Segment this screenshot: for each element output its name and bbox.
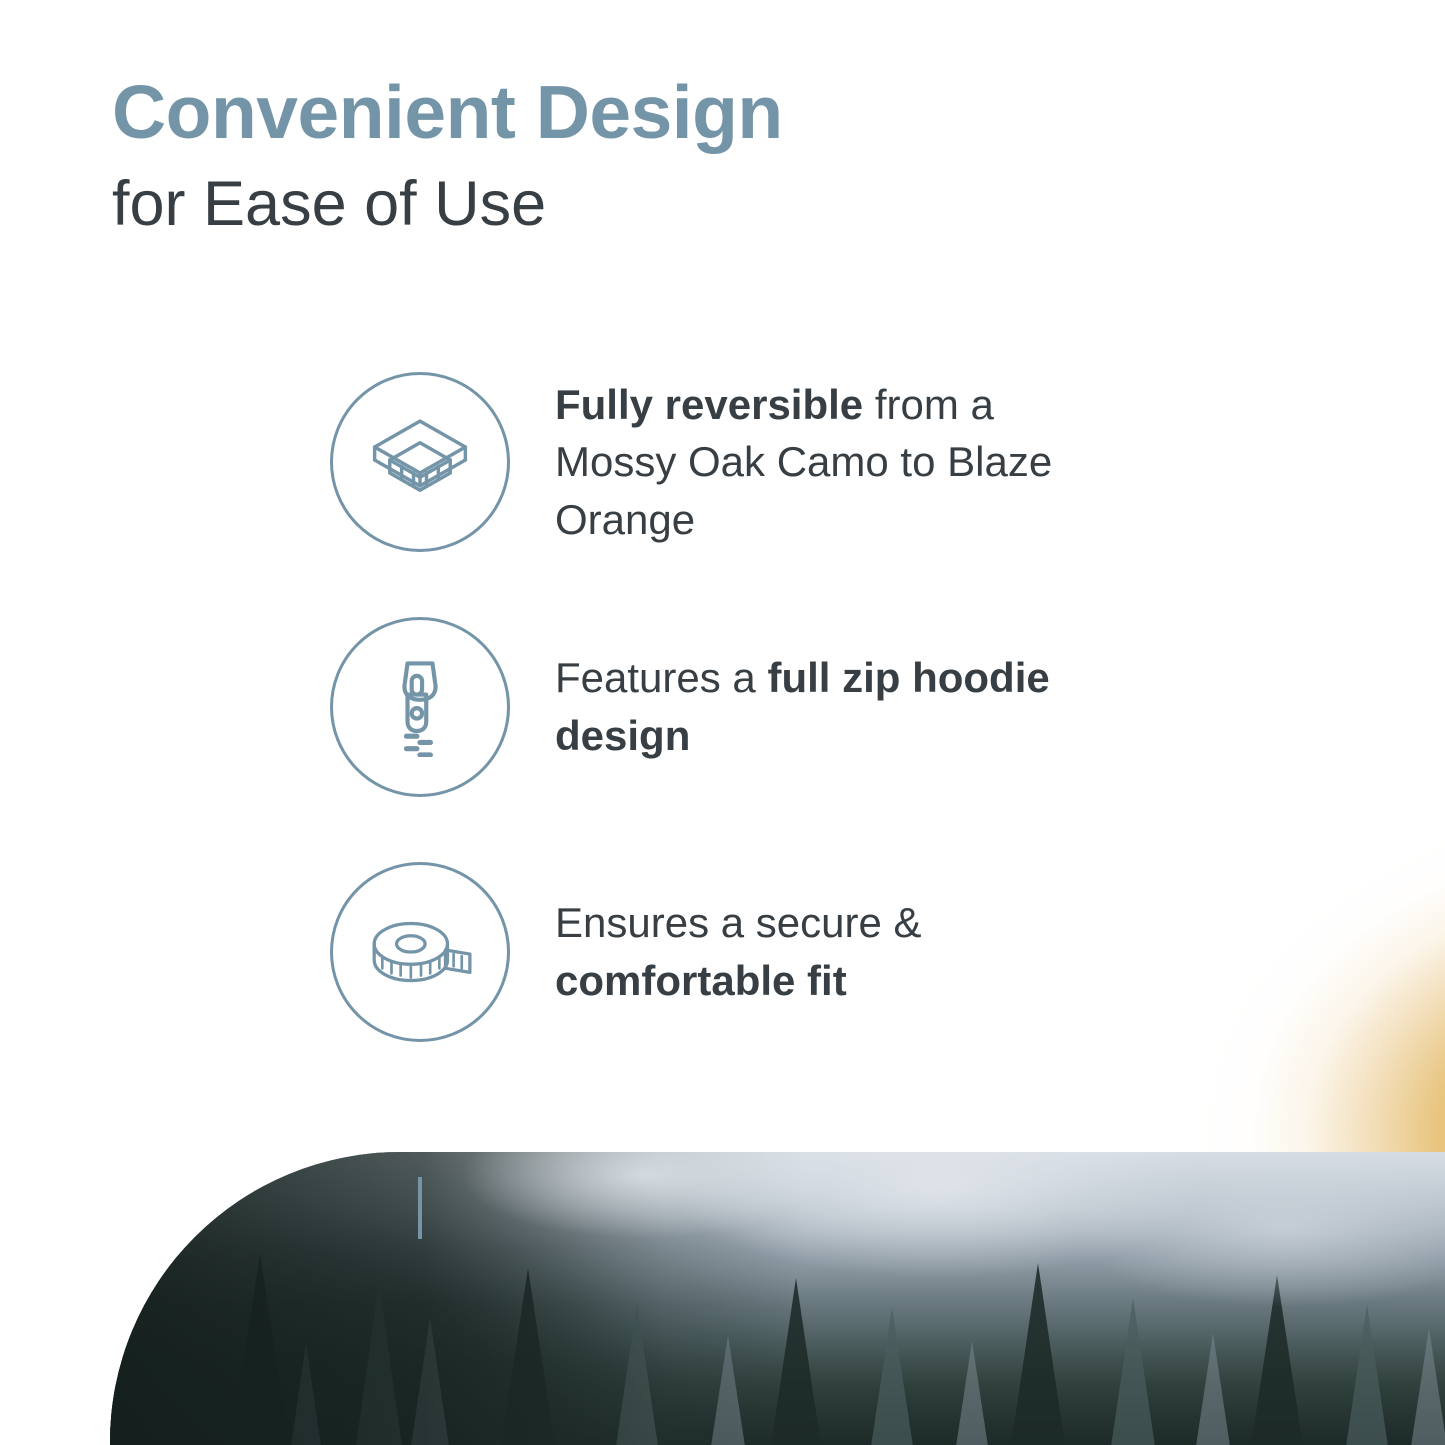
feature-list: Fully reversible from a Mossy Oak Camo t… bbox=[330, 372, 1330, 1042]
feature-text-1: Fully reversible from a Mossy Oak Camo t… bbox=[555, 376, 1115, 549]
heading-block: Convenient Design for Ease of Use bbox=[112, 74, 1212, 237]
feature-icon-circle-3 bbox=[330, 862, 510, 1042]
tape-measure-icon bbox=[364, 894, 476, 1011]
forest-photo-panel bbox=[110, 1152, 1445, 1445]
list-item: Features a full zip hoodie design bbox=[330, 617, 1330, 797]
feature-text-2: Features a full zip hoodie design bbox=[555, 649, 1115, 764]
feature-icon-circle-2 bbox=[330, 617, 510, 797]
feature-3-bold: comfortable fit bbox=[555, 957, 847, 1004]
zipper-pull-icon bbox=[368, 653, 472, 762]
page-title: Convenient Design bbox=[112, 74, 1212, 151]
list-item: Fully reversible from a Mossy Oak Camo t… bbox=[330, 372, 1330, 552]
feature-text-3: Ensures a secure & comfortable fit bbox=[555, 894, 1115, 1009]
forest-mist-overlay bbox=[110, 1152, 1445, 1445]
feature-icon-circle-1 bbox=[330, 372, 510, 552]
connector-line-2 bbox=[418, 1177, 422, 1239]
page-subtitle: for Ease of Use bbox=[112, 171, 1212, 237]
feature-3-lead: Ensures a secure & bbox=[555, 899, 922, 946]
layers-reversible-fabric-icon bbox=[366, 406, 474, 519]
infographic-canvas: Convenient Design for Ease of Use bbox=[0, 0, 1445, 1445]
feature-2-lead: Features a bbox=[555, 654, 767, 701]
feature-1-bold: Fully reversible bbox=[555, 381, 863, 428]
list-item: Ensures a secure & comfortable fit bbox=[330, 862, 1330, 1042]
